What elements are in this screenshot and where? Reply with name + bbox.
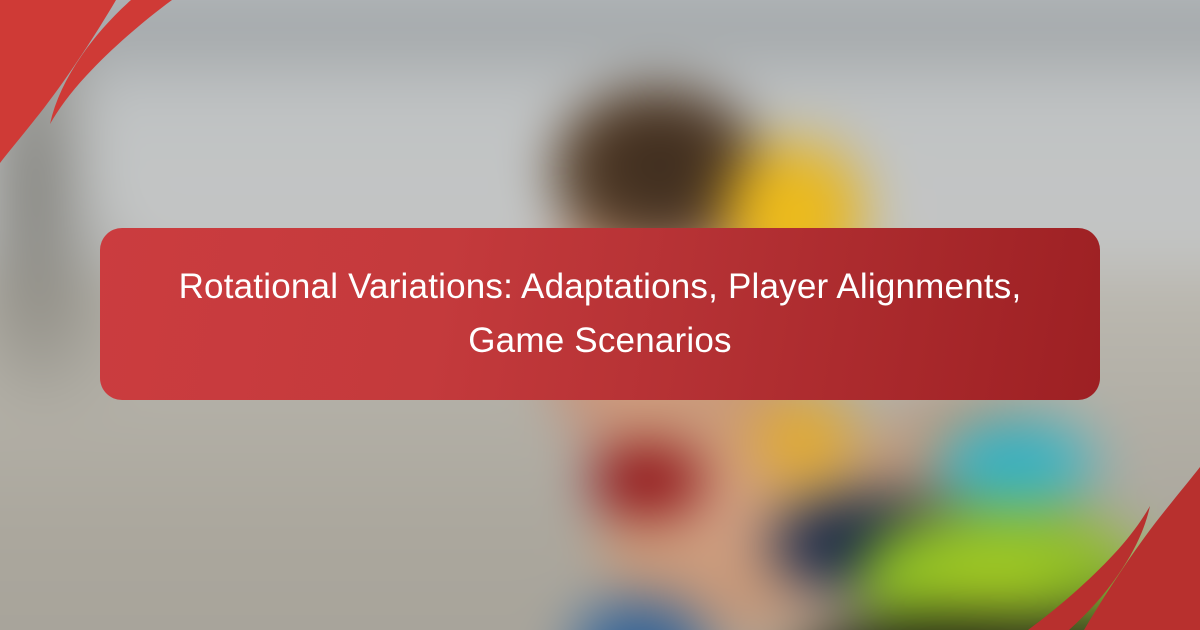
title-banner: Rotational Variations: Adaptations, Play…: [100, 228, 1100, 400]
social-card: Rotational Variations: Adaptations, Play…: [0, 0, 1200, 630]
page-title: Rotational Variations: Adaptations, Play…: [160, 260, 1040, 369]
background-left-figure: [0, 31, 97, 394]
background-red-top: [586, 441, 708, 520]
